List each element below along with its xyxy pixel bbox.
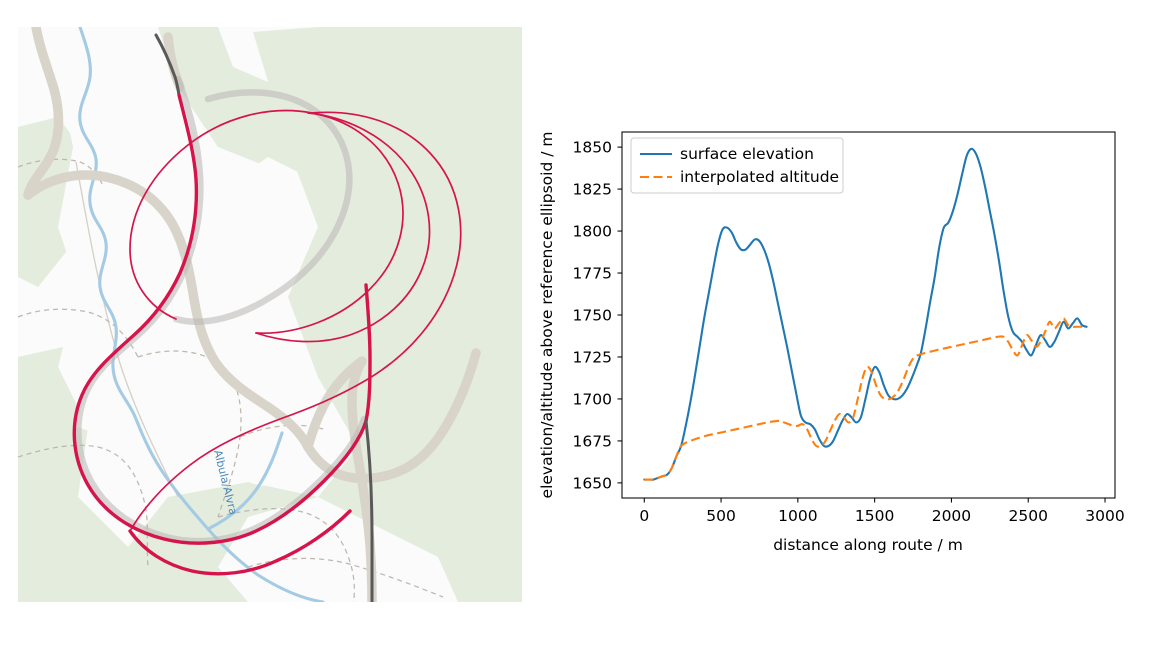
x-tick-label: 500: [706, 507, 736, 525]
y-tick-label: 1825: [573, 181, 612, 199]
x-tick-label: 2500: [1008, 507, 1047, 525]
y-tick-label: 1775: [573, 265, 612, 283]
route-map-canvas: Albula/Alvra: [18, 27, 522, 602]
y-axis-title: elevation/altitude above reference ellip…: [538, 132, 556, 499]
elevation-profile-panel: 050010001500200025003000 165016751700172…: [530, 110, 1140, 570]
y-axis-ticks: 165016751700172517501775180018251850: [573, 139, 622, 493]
y-tick-label: 1675: [573, 432, 612, 450]
chart-legend: surface elevation interpolated altitude: [631, 138, 843, 193]
x-tick-label: 3000: [1085, 507, 1124, 525]
legend-label-interpolated-altitude: interpolated altitude: [680, 168, 839, 186]
series-surface-elevation: [644, 149, 1086, 480]
y-tick-label: 1750: [573, 307, 612, 325]
legend-label-surface-elevation: surface elevation: [680, 145, 814, 163]
y-tick-label: 1850: [573, 139, 612, 157]
route-map-panel: Albula/Alvra: [18, 27, 522, 602]
x-tick-label: 1500: [855, 507, 894, 525]
y-tick-label: 1725: [573, 348, 612, 366]
y-tick-label: 1800: [573, 223, 612, 241]
x-tick-label: 2000: [932, 507, 971, 525]
x-axis-ticks: 050010001500200025003000: [639, 498, 1124, 525]
elevation-profile-chart: 050010001500200025003000 165016751700172…: [530, 110, 1140, 570]
x-tick-label: 1000: [778, 507, 817, 525]
x-tick-label: 0: [639, 507, 649, 525]
y-tick-label: 1650: [573, 474, 612, 492]
x-axis-title: distance along route / m: [773, 536, 963, 554]
y-tick-label: 1700: [573, 390, 612, 408]
